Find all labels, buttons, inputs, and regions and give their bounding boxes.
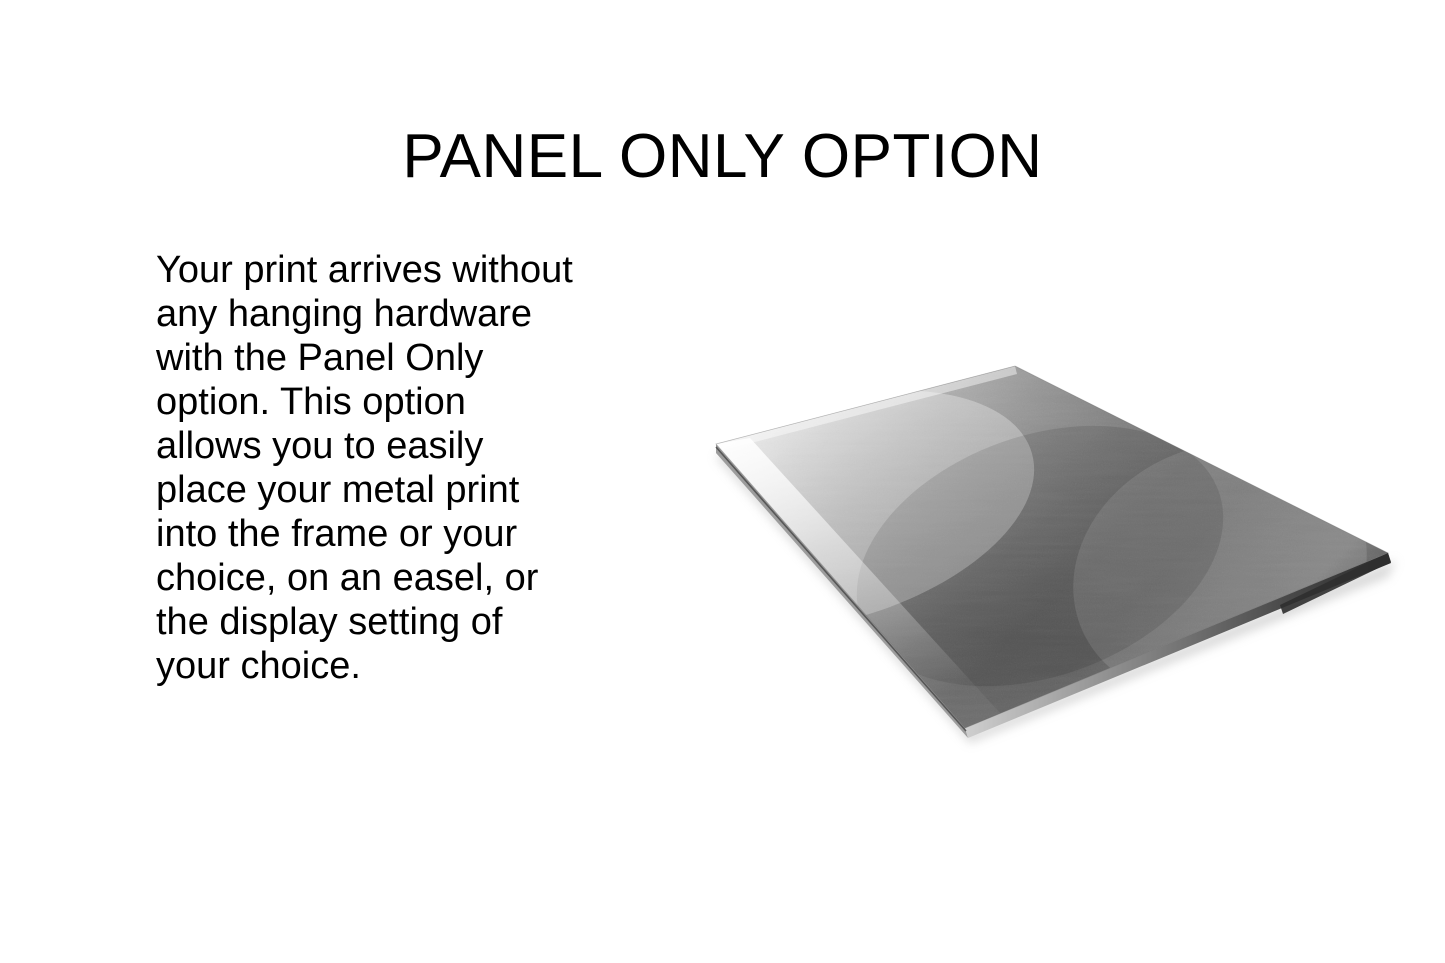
slide-canvas: PANEL ONLY OPTION Your print arrives wit… [0, 0, 1445, 963]
body-line: option. This option [156, 380, 586, 424]
body-line: with the Panel Only [156, 336, 586, 380]
body-line: Your print arrives without [156, 248, 586, 292]
body-line: into the frame or your [156, 512, 586, 556]
body-line: any hanging hardware [156, 292, 586, 336]
body-line: allows you to easily [156, 424, 586, 468]
page-title: PANEL ONLY OPTION [0, 120, 1445, 194]
body-line: choice, on an easel, or [156, 556, 586, 600]
body-line: the display setting of [156, 600, 586, 644]
body-paragraph: Your print arrives without any hanging h… [156, 248, 586, 688]
metal-panel-illustration [680, 341, 1420, 756]
metal-panel-image [680, 341, 1420, 756]
body-line: your choice. [156, 644, 586, 688]
body-line: place your metal print [156, 468, 586, 512]
